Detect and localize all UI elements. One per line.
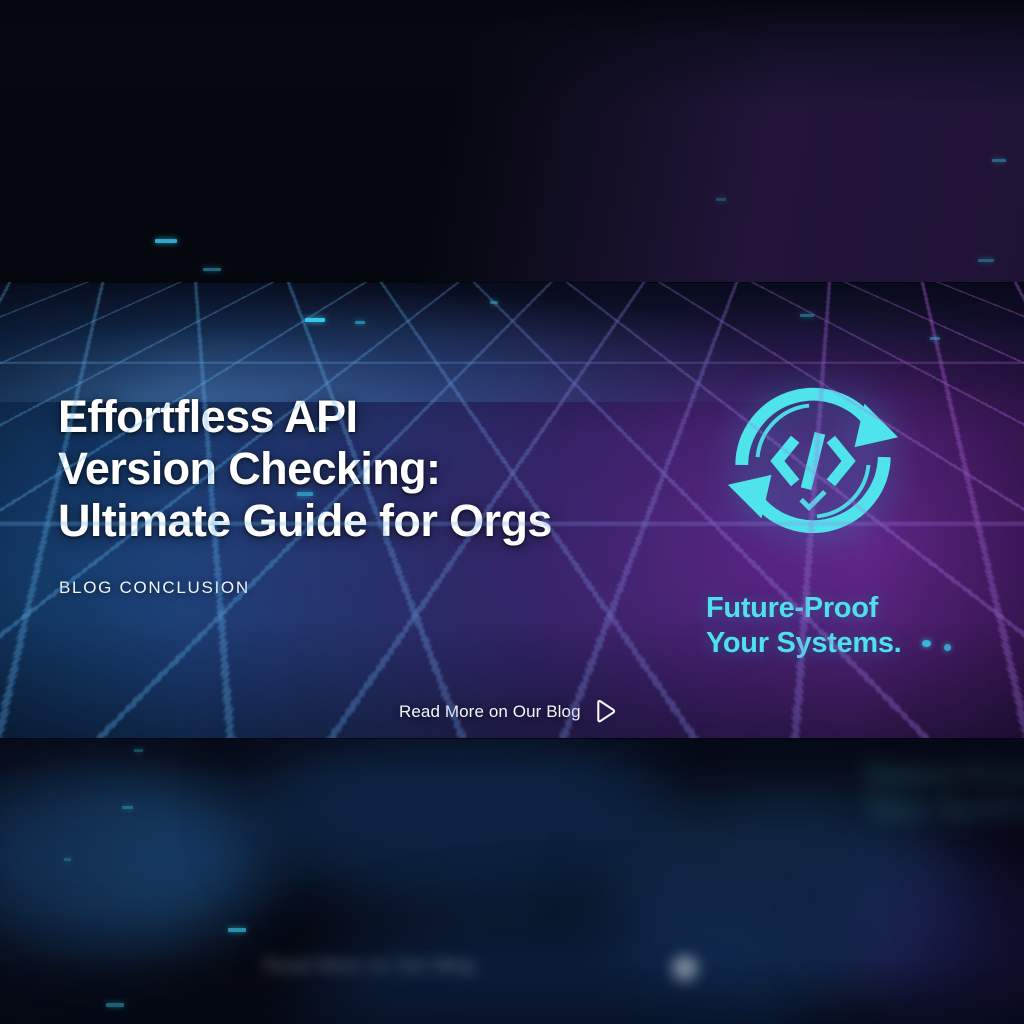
particle-dash bbox=[305, 318, 325, 322]
particle-dash bbox=[122, 806, 133, 809]
reflection-tagline: Future-Proof Your Systems. bbox=[866, 756, 1024, 826]
bottom-vignette bbox=[0, 738, 1024, 1024]
tagline-text: Future-Proof Your Systems. bbox=[706, 591, 1006, 661]
reflection-play-icon bbox=[672, 956, 698, 982]
particle-dash bbox=[203, 268, 221, 271]
reflection-blob bbox=[0, 768, 270, 948]
kicker-label: BLOG CONCLUSION bbox=[59, 578, 250, 598]
reflection-blob bbox=[610, 788, 970, 1008]
reflection-cta-label: Read More on Our Blog bbox=[264, 956, 664, 978]
top-gradient-band bbox=[0, 0, 1024, 282]
reflection-blob bbox=[300, 918, 820, 1024]
page-title: Effortfless API Version Checking: Ultima… bbox=[58, 391, 658, 547]
particle-dash bbox=[155, 239, 177, 243]
particle-dash bbox=[106, 1003, 124, 1007]
particle-dash bbox=[228, 928, 246, 932]
cta-label: Read More on Our Blog bbox=[399, 702, 581, 722]
particle-dash bbox=[930, 337, 940, 340]
particle-dash bbox=[134, 749, 143, 752]
code-sync-refresh-icon bbox=[714, 362, 912, 560]
particle-dash bbox=[716, 198, 726, 201]
bottom-reflection-area: Future-Proof Your Systems. Read More on … bbox=[0, 738, 1024, 1024]
play-triangle-icon[interactable] bbox=[593, 699, 618, 724]
reflection-blob bbox=[840, 858, 1024, 1024]
reflection-blob bbox=[250, 738, 670, 908]
particle-dash bbox=[64, 858, 71, 861]
particle-dash bbox=[978, 259, 994, 262]
particle-dash bbox=[800, 314, 814, 317]
particle-dash bbox=[355, 321, 365, 324]
particle-dash bbox=[490, 301, 498, 304]
banner-canvas: Effortfless API Version Checking: Ultima… bbox=[0, 0, 1024, 1024]
particle-dash bbox=[992, 159, 1006, 162]
read-more-cta[interactable]: Read More on Our Blog bbox=[399, 699, 618, 724]
